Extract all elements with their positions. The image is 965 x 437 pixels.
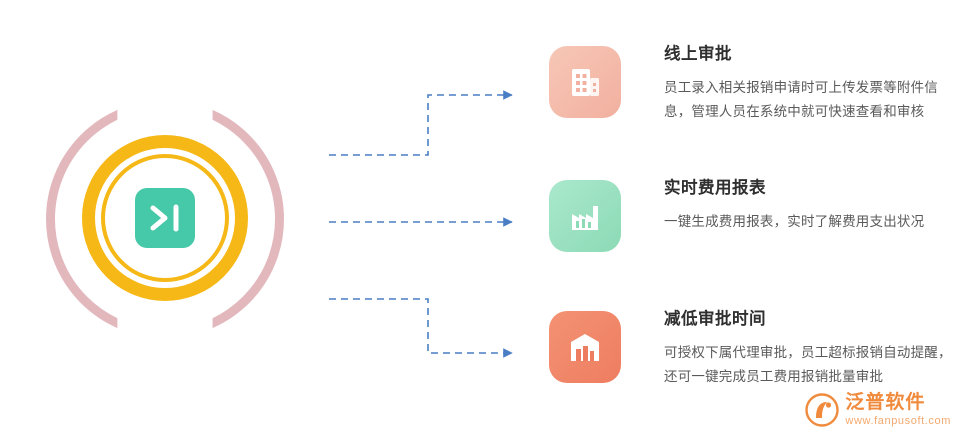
connector-arrow-3 (329, 299, 512, 353)
feature-text-1: 线上审批 员工录入相关报销申请时可上传发票等附件信息，管理人员在系统中就可快速查… (664, 46, 956, 124)
feature-desc-1: 员工录入相关报销申请时可上传发票等附件信息，管理人员在系统中就可快速查看和审核 (664, 76, 956, 124)
feature-title-2: 实时费用报表 (664, 180, 956, 197)
watermark-url: www.fanpusoft.com (845, 415, 951, 427)
feature-item-3: 减低审批时间 可授权下属代理审批，员工超标报销自动提醒，还可一键完成员工费用报销… (549, 311, 956, 389)
building-office-icon (549, 46, 621, 118)
feature-text-3: 减低审批时间 可授权下属代理审批，员工超标报销自动提醒，还可一键完成员工费用报销… (664, 311, 956, 389)
feature-item-2: 实时费用报表 一键生成费用报表，实时了解费用支出状况 (549, 180, 956, 252)
factory-chart-icon (549, 180, 621, 252)
watermark: 泛普软件 www.fanpusoft.com (805, 393, 951, 427)
feature-item-1: 线上审批 员工录入相关报销申请时可上传发票等附件信息，管理人员在系统中就可快速查… (549, 46, 956, 124)
feature-desc-3: 可授权下属代理审批，员工超标报销自动提醒，还可一键完成员工费用报销批量审批 (664, 341, 956, 389)
feature-title-1: 线上审批 (664, 46, 956, 63)
terminal-prompt-icon (131, 184, 199, 252)
fanpu-logo-icon (805, 393, 839, 427)
watermark-name: 泛普软件 (845, 393, 951, 413)
watermark-text: 泛普软件 www.fanpusoft.com (845, 393, 951, 427)
connector-arrow-1 (329, 95, 512, 155)
feature-text-2: 实时费用报表 一键生成费用报表，实时了解费用支出状况 (664, 180, 956, 234)
diagram-canvas: 线上审批 员工录入相关报销申请时可上传发票等附件信息，管理人员在系统中就可快速查… (0, 0, 965, 437)
warehouse-icon (549, 311, 621, 383)
feature-desc-2: 一键生成费用报表，实时了解费用支出状况 (664, 210, 956, 234)
feature-title-3: 减低审批时间 (664, 311, 956, 328)
emblem (30, 88, 300, 350)
